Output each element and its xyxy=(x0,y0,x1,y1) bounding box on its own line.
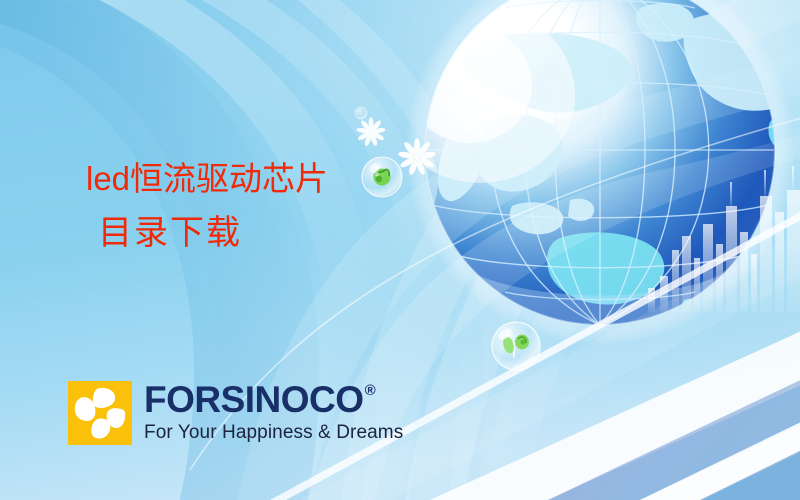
headline-line-2: 目录下载 xyxy=(86,216,426,250)
logo-wordmark: FORSINOCO ® For Your Happiness & Dreams xyxy=(144,381,403,444)
bubble-tiny xyxy=(355,107,367,119)
logo-company-name: FORSINOCO xyxy=(144,381,364,418)
registered-trademark-icon: ® xyxy=(365,383,376,398)
pinwheel-petals-icon xyxy=(68,381,132,445)
forsinoco-pinwheel-mark xyxy=(68,381,132,445)
bubble-leaf-icon xyxy=(492,322,540,370)
logo-name-row: FORSINOCO ® xyxy=(144,381,403,418)
promotional-banner: led恒流驱动芯片 目录下载 FORSINOCO ® For Your Happ… xyxy=(0,0,800,500)
headline-line-1: led恒流驱动芯片 xyxy=(86,162,426,216)
forsinoco-logo[interactable]: FORSINOCO ® For Your Happiness & Dreams xyxy=(68,381,403,445)
logo-tagline: For Your Happiness & Dreams xyxy=(144,422,403,444)
headline-block: led恒流驱动芯片 目录下载 xyxy=(86,162,426,250)
